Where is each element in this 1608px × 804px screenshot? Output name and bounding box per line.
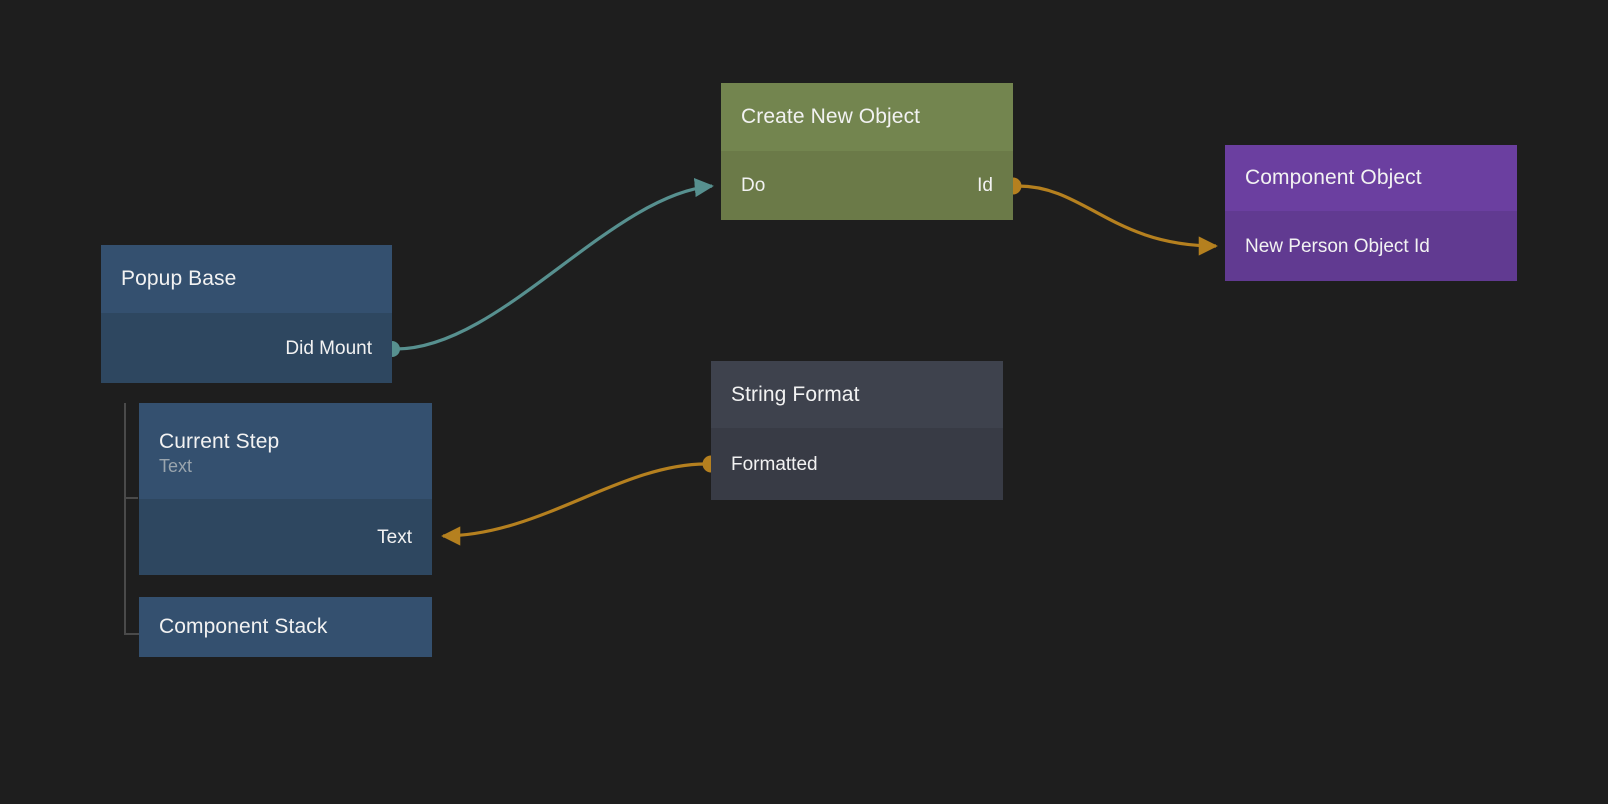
node-graph-canvas[interactable]: Popup Base Did Mount Current Step Text T… [0, 0, 1608, 804]
node-create-new-object[interactable]: Create New Object Do Id [721, 83, 1013, 220]
node-current-step[interactable]: Current Step Text Text [139, 403, 432, 575]
node-string-format-header[interactable]: String Format [711, 361, 1003, 428]
node-component-object-title: Component Object [1245, 165, 1497, 191]
port-row-new-person-object-id[interactable]: New Person Object Id [1225, 211, 1517, 281]
tree-connector-vertical [124, 403, 126, 635]
node-component-stack-header[interactable]: Component Stack [139, 597, 432, 657]
port-row-formatted[interactable]: Formatted [711, 428, 1003, 500]
port-label-did-mount: Did Mount [285, 337, 372, 360]
node-component-object-header[interactable]: Component Object [1225, 145, 1517, 211]
node-string-format-title: String Format [731, 382, 983, 408]
port-row-do-id[interactable]: Do Id [721, 151, 1013, 220]
node-create-new-object-header[interactable]: Create New Object [721, 83, 1013, 151]
node-component-stack[interactable]: Component Stack [139, 597, 432, 657]
edge-did-mount-to-do [384, 186, 712, 357]
node-popup-base-title: Popup Base [121, 266, 372, 292]
node-popup-base-header[interactable]: Popup Base [101, 245, 392, 313]
edge-formatted-to-text [443, 456, 720, 537]
node-component-stack-title: Component Stack [159, 614, 412, 640]
port-label-id: Id [977, 174, 993, 197]
node-current-step-body: Text [139, 499, 432, 575]
node-popup-base-body: Did Mount [101, 313, 392, 383]
node-current-step-title: Current Step [159, 429, 412, 455]
node-create-new-object-body: Do Id [721, 151, 1013, 220]
node-component-object[interactable]: Component Object New Person Object Id [1225, 145, 1517, 281]
tree-connector-branch-component-stack [124, 633, 140, 635]
edge-id-to-new-person-object-id [1005, 178, 1217, 247]
port-label-text: Text [377, 526, 412, 549]
node-component-object-body: New Person Object Id [1225, 211, 1517, 281]
port-label-formatted: Formatted [731, 453, 818, 476]
port-row-did-mount[interactable]: Did Mount [101, 313, 392, 383]
tree-connector-branch-current-step [124, 497, 138, 499]
node-create-new-object-title: Create New Object [741, 104, 993, 130]
port-label-new-person-object-id: New Person Object Id [1245, 235, 1430, 258]
port-label-do: Do [741, 174, 765, 197]
node-popup-base[interactable]: Popup Base Did Mount [101, 245, 392, 383]
node-string-format-body: Formatted [711, 428, 1003, 500]
node-current-step-subtitle: Text [159, 455, 412, 477]
port-row-text[interactable]: Text [139, 499, 432, 575]
node-string-format[interactable]: String Format Formatted [711, 361, 1003, 500]
node-current-step-header[interactable]: Current Step Text [139, 403, 432, 499]
